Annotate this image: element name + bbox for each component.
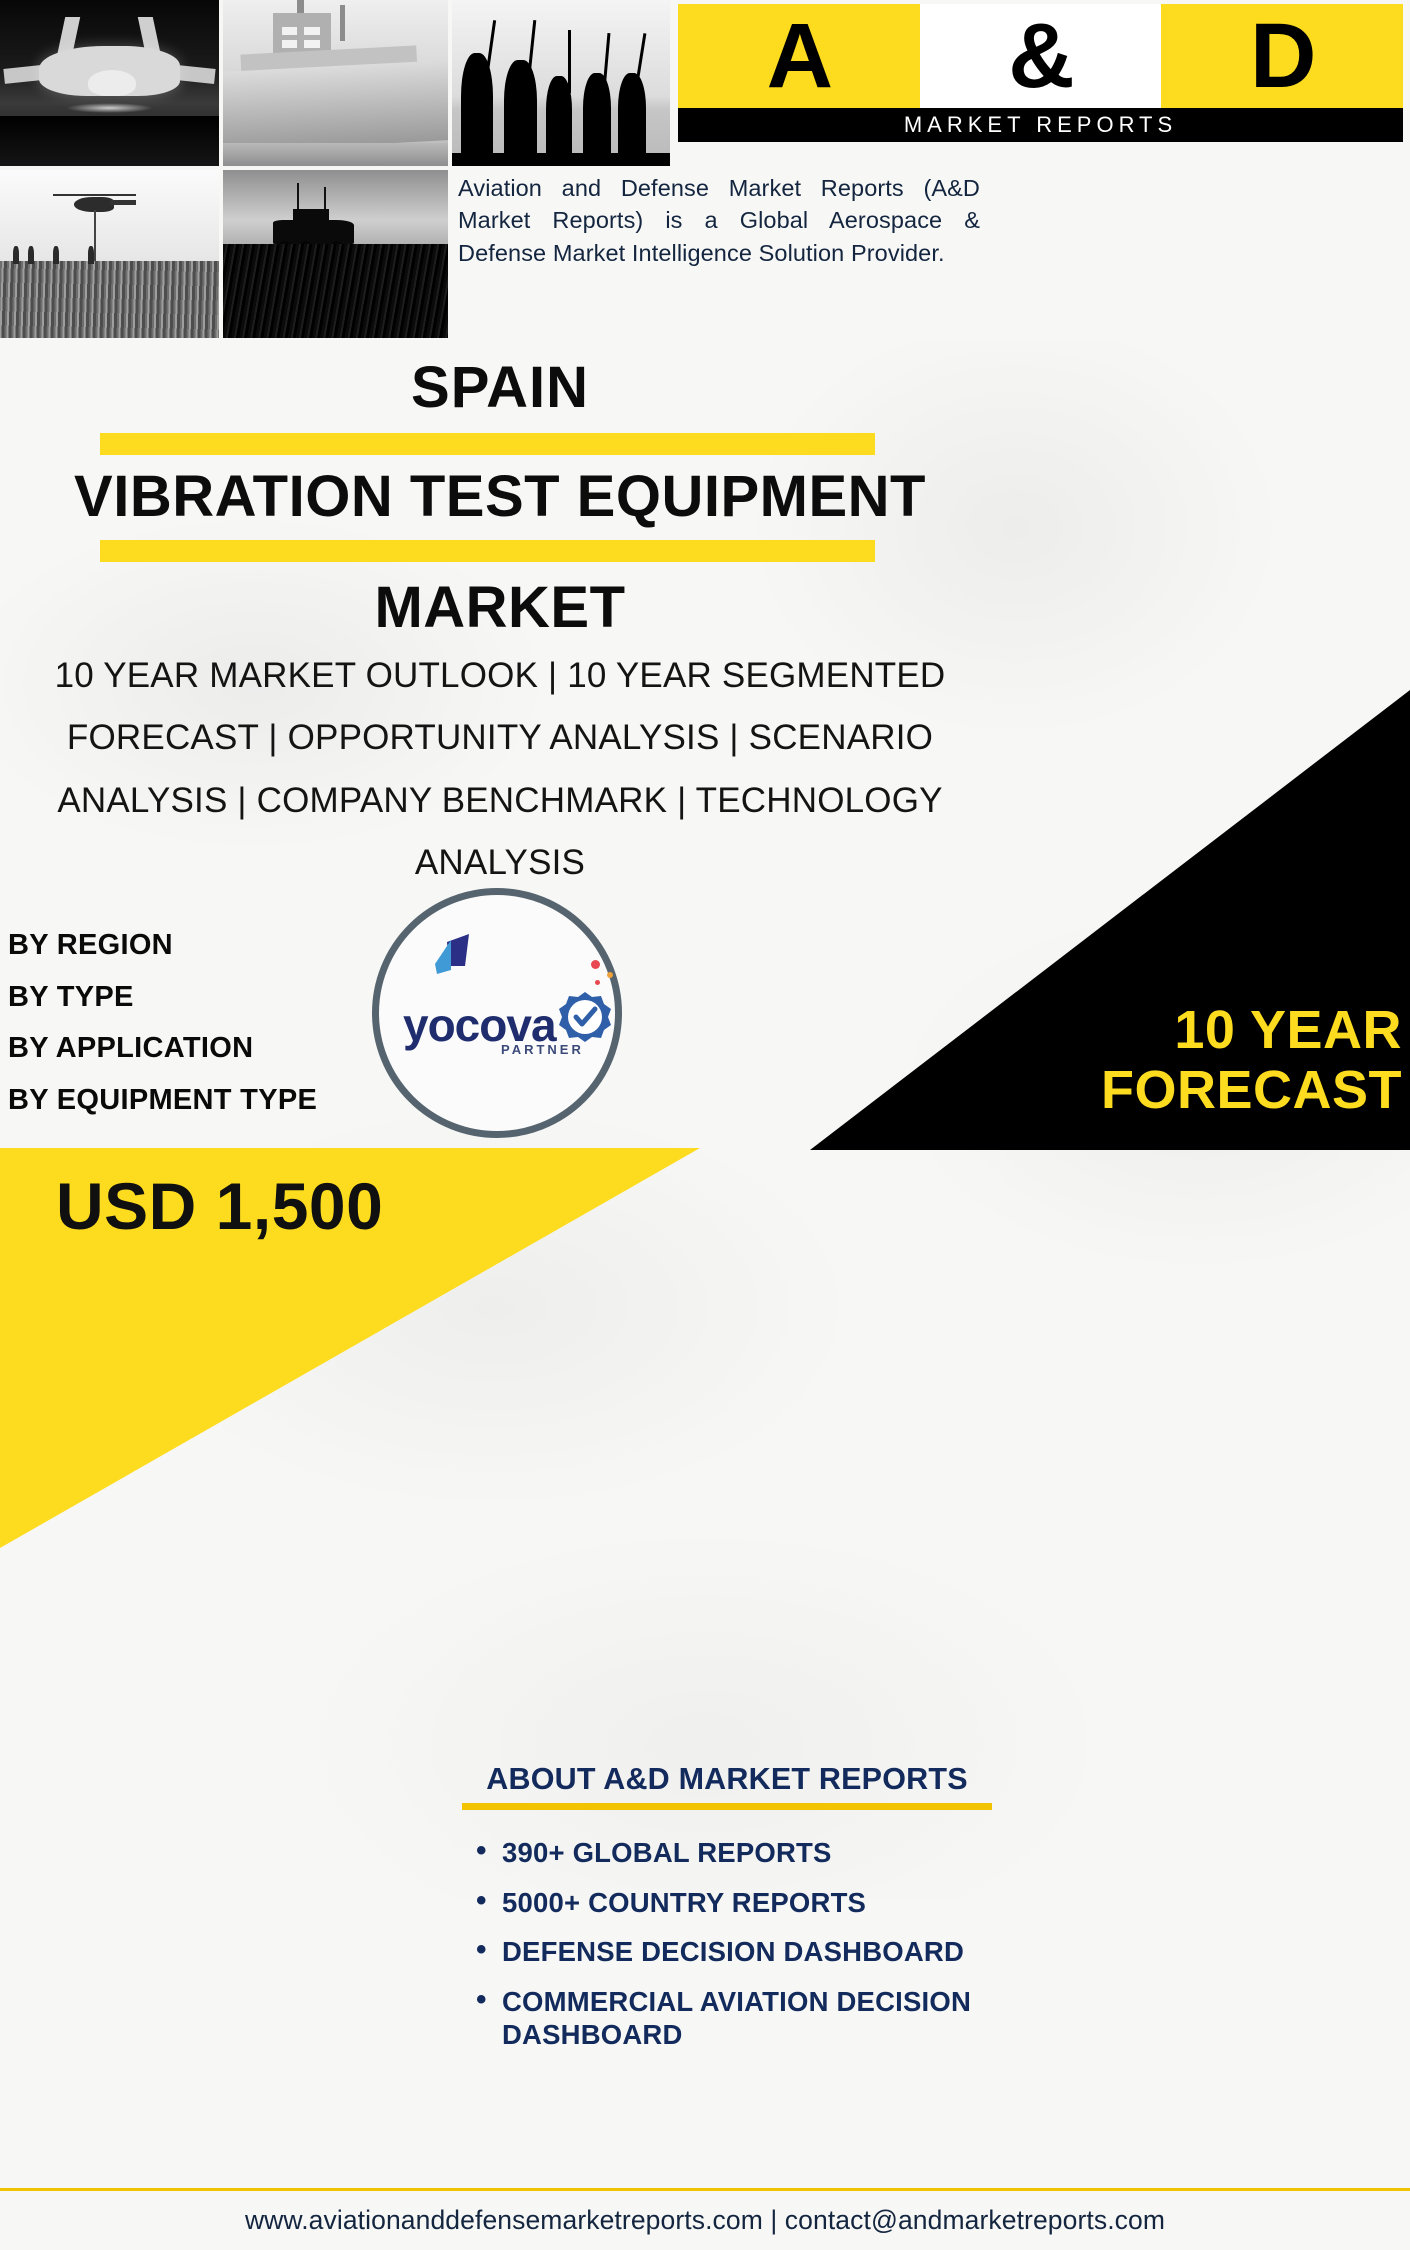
yocova-partner-badge: yocova PARTNER bbox=[372, 888, 622, 1138]
helicopter-photo bbox=[0, 170, 219, 338]
navy-ship-photo bbox=[223, 0, 448, 166]
list-item: 5000+ COUNTRY REPORTS bbox=[462, 1886, 992, 1920]
segmentation-item-equipment-type: BY EQUIPMENT TYPE bbox=[8, 1075, 317, 1127]
forecast-badge: 10 YEAR FORECAST bbox=[850, 1000, 1410, 1121]
country-name: SPAIN bbox=[0, 358, 1000, 419]
list-item: DEFENSE DECISION DASHBOARD bbox=[462, 1935, 992, 1969]
list-item: COMMERCIAL AVIATION DECISION DASHBOARD bbox=[462, 1985, 992, 2052]
segmentation-item-application: BY APPLICATION bbox=[8, 1023, 317, 1075]
about-list: 390+ GLOBAL REPORTS 5000+ COUNTRY REPORT… bbox=[462, 1836, 992, 2052]
brand-logo: A & D MARKET REPORTS bbox=[678, 4, 1403, 144]
logo-tagline: MARKET REPORTS bbox=[904, 112, 1177, 138]
fighter-jet-photo bbox=[0, 0, 219, 166]
about-heading: ABOUT A&D MARKET REPORTS bbox=[462, 1762, 992, 1797]
soldiers-silhouette-photo bbox=[452, 0, 670, 166]
company-intro-text: Aviation and Defense Market Reports (A&D… bbox=[458, 172, 980, 269]
yocova-partner-label: PARTNER bbox=[501, 1042, 584, 1057]
title-accent-bar-bottom bbox=[100, 540, 875, 562]
forecast-line-2: FORECAST bbox=[850, 1060, 1402, 1120]
report-title-block: SPAIN VIBRATION TEST EQUIPMENT MARKET bbox=[0, 358, 1000, 641]
footer-contact-bar: www.aviationanddefensemarketreports.com … bbox=[0, 2188, 1410, 2250]
logo-tagline-bar: MARKET REPORTS bbox=[678, 108, 1403, 142]
check-badge-icon bbox=[559, 990, 611, 1042]
report-scope-subtitle: 10 YEAR MARKET OUTLOOK | 10 YEAR SEGMENT… bbox=[24, 645, 976, 894]
title-accent-bar-top bbox=[100, 433, 875, 455]
yocova-mark-icon bbox=[421, 930, 483, 992]
segmentation-item-region: BY REGION bbox=[8, 920, 317, 972]
forecast-line-1: 10 YEAR bbox=[850, 1000, 1402, 1060]
logo-letter-ampersand: & bbox=[920, 4, 1162, 108]
logo-letter-a: A bbox=[678, 4, 920, 108]
price-label: USD 1,500 bbox=[56, 1168, 383, 1244]
logo-letter-d: D bbox=[1161, 4, 1403, 108]
footer-text: www.aviationanddefensemarketreports.com … bbox=[245, 2205, 1165, 2236]
title-market-word: MARKET bbox=[0, 574, 1000, 641]
photo-strip bbox=[0, 0, 670, 340]
list-item: 390+ GLOBAL REPORTS bbox=[462, 1836, 992, 1870]
segmentation-list: BY REGION BY TYPE BY APPLICATION BY EQUI… bbox=[8, 920, 317, 1126]
page-title: VIBRATION TEST EQUIPMENT bbox=[0, 465, 1000, 530]
segmentation-item-type: BY TYPE bbox=[8, 972, 317, 1024]
logo-letters: A & D bbox=[678, 4, 1403, 108]
about-heading-underline bbox=[462, 1803, 992, 1810]
about-section: ABOUT A&D MARKET REPORTS 390+ GLOBAL REP… bbox=[462, 1762, 992, 2068]
armored-vehicle-photo bbox=[223, 170, 448, 338]
